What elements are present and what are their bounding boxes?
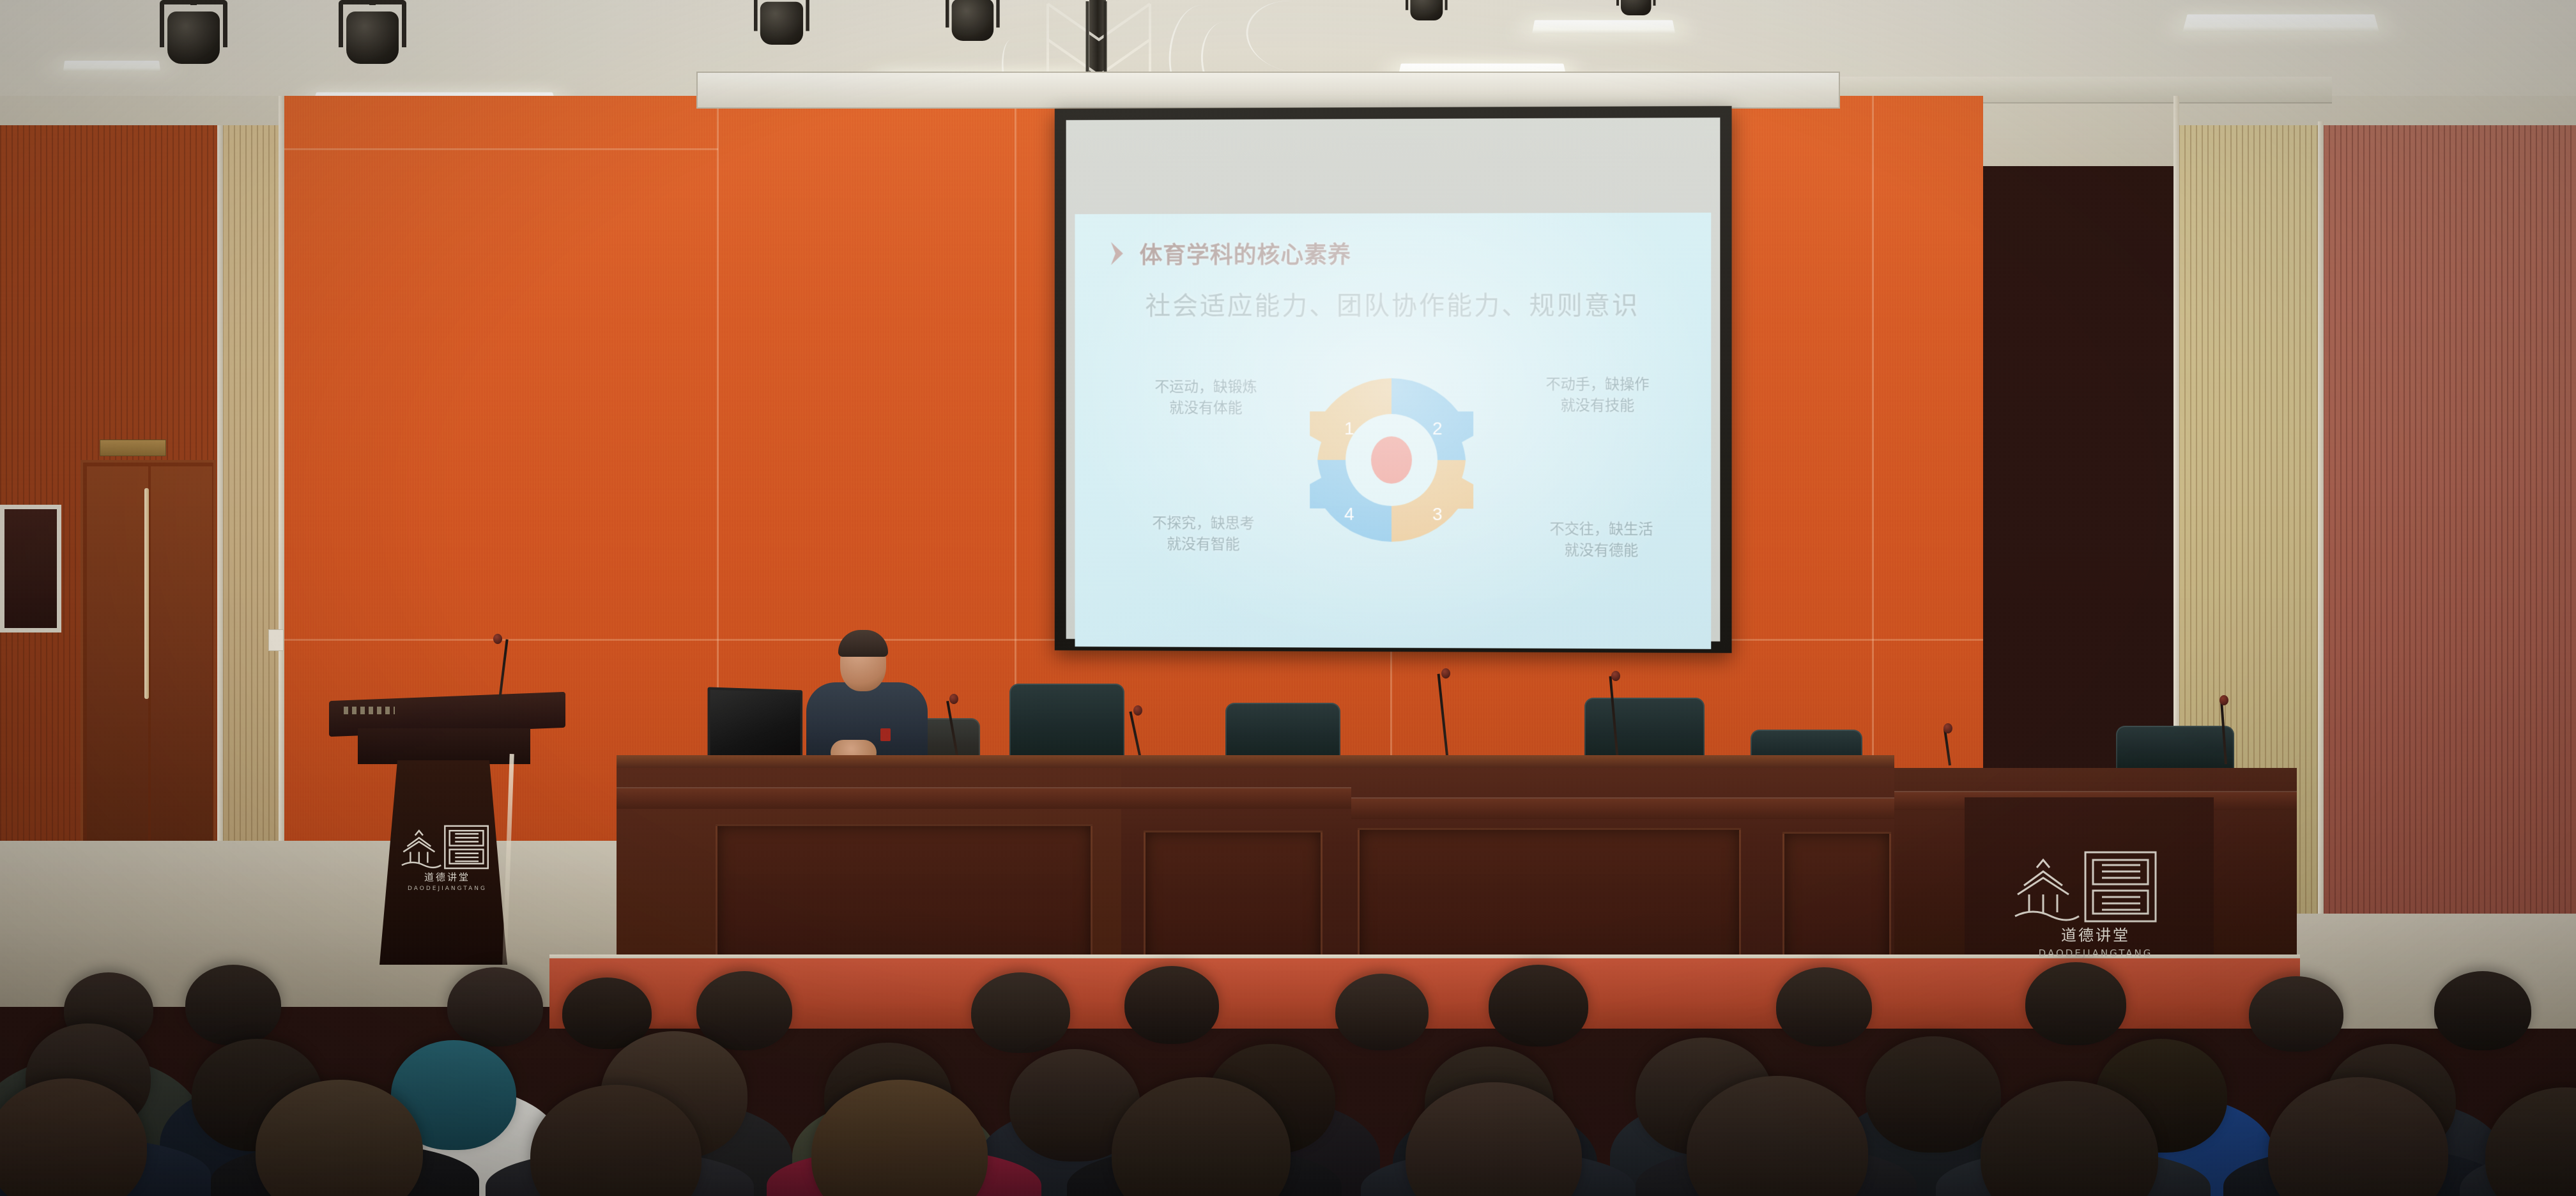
quadrant-label-4: 不探究，缺思考 就没有智能 [1152,513,1254,556]
microphone-head-icon [2219,695,2228,705]
audience-head [185,965,281,1045]
chair[interactable] [2116,726,2234,772]
audience-head [2025,962,2126,1045]
donut-number-1: 1 [1344,418,1354,438]
projection-screen-surface: 体育学科的核心素养 社会适应能力、团队协作能力、规则意识 不运动，缺锻炼 就没有… [1066,118,1721,641]
quadrant-label-4-line2: 就没有智能 [1152,534,1254,556]
presentation-slide: 体育学科的核心素养 社会适应能力、团队协作能力、规则意识 不运动，缺锻炼 就没有… [1075,213,1711,649]
door-leaf-left[interactable] [87,466,148,842]
microphone-head-icon [1611,671,1620,681]
quadrant-label-1-line2: 就没有体能 [1154,398,1257,419]
door-leaf-right[interactable] [151,466,212,842]
quadrant-label-2: 不动手，缺操作 就没有技能 [1545,374,1649,417]
quadrant-label-1: 不运动，缺锻炼 就没有体能 [1154,377,1257,420]
microphone-head-icon [949,694,958,704]
wall-wood-left-tan [222,125,284,847]
quadrant-label-3-line2: 就没有德能 [1550,540,1653,562]
wall-wood-right-red [2323,125,2576,949]
wall-divider [217,125,223,847]
presenter-monitor[interactable] [708,687,803,765]
projection-screen: 体育学科的核心素养 社会适应能力、团队协作能力、规则意识 不运动，缺锻炼 就没有… [1055,106,1732,653]
wall-divider [279,96,284,888]
head-table-band [1351,797,1894,819]
chair[interactable] [1009,684,1124,762]
donut-number-4: 4 [1344,504,1354,524]
speaker-badge [880,728,891,741]
projection-screen-casing [696,72,1840,109]
wall-seam [284,148,718,150]
quadrant-label-3: 不交往，缺生活 就没有德能 [1550,519,1653,562]
ceiling-panel-light [63,61,160,71]
audience-head [447,967,543,1046]
ceiling-panel-light [2182,15,2379,33]
chevron-right-icon [1109,241,1127,266]
microphone-head-icon [1441,668,1450,678]
donut-center [1371,436,1412,484]
slide-subtitle: 社会适应能力、团队协作能力、规则意识 [1075,284,1711,322]
quadrant-label-1-line1: 不运动，缺锻炼 [1154,377,1257,398]
microphone-head-icon [1943,723,1952,733]
quadrant-label-4-line1: 不探究，缺思考 [1152,513,1254,535]
slide-title: 体育学科的核心素养 [1140,236,1351,270]
donut-number-2: 2 [1432,418,1443,438]
exit-sign [100,440,166,456]
podium-control-keypad[interactable] [344,707,395,714]
audience [0,896,2576,1196]
daode-jiangtang-logo-podium: 道德讲堂 DAODEJIANGTANG [396,813,498,892]
hall-door[interactable] [80,460,216,843]
quadrant-label-2-line2: 就没有技能 [1545,395,1649,417]
microphone-head-icon [493,634,502,644]
quadrant-label-3-line1: 不交往，缺生活 [1550,519,1653,541]
donut-number-3: 3 [1432,504,1443,524]
logo-chinese-text: 道德讲堂 [396,870,498,884]
audience-head [696,971,792,1050]
door-push-bar[interactable] [144,488,149,699]
audience-head [2249,976,2343,1052]
head-table-top-edge [617,755,1894,768]
audience-head [1489,965,1588,1046]
quadrant-label-2-line1: 不动手，缺操作 [1545,374,1649,395]
lecture-hall-scene: 体育学科的核心素养 社会适应能力、团队协作能力、规则意识 不运动，缺锻炼 就没有… [0,0,2576,1196]
audience-head [2434,971,2531,1050]
temple-seal-icon [396,813,498,871]
wall-window [0,505,61,632]
slide-title-row: 体育学科的核心素养 [1109,236,1351,270]
donut-svg: 1 2 3 4 [1296,364,1487,556]
audience-head [2485,1087,2576,1196]
audience-head [1124,966,1219,1044]
ceiling-panel-light [1532,20,1675,34]
head-table-band [617,787,1351,809]
audience-head [1335,974,1429,1050]
audience-head [1866,1036,2001,1153]
donut-diagram: 1 2 3 4 [1296,364,1487,556]
audience-head [1776,967,1872,1046]
light-switch[interactable] [268,629,284,651]
podium-neck [358,728,530,764]
chair[interactable] [1584,698,1705,764]
microphone-head-icon [1133,705,1142,716]
logo-pinyin-text: DAODEJIANGTANG [396,885,498,892]
wall-divider [2318,121,2324,952]
audience-head [971,972,1070,1053]
